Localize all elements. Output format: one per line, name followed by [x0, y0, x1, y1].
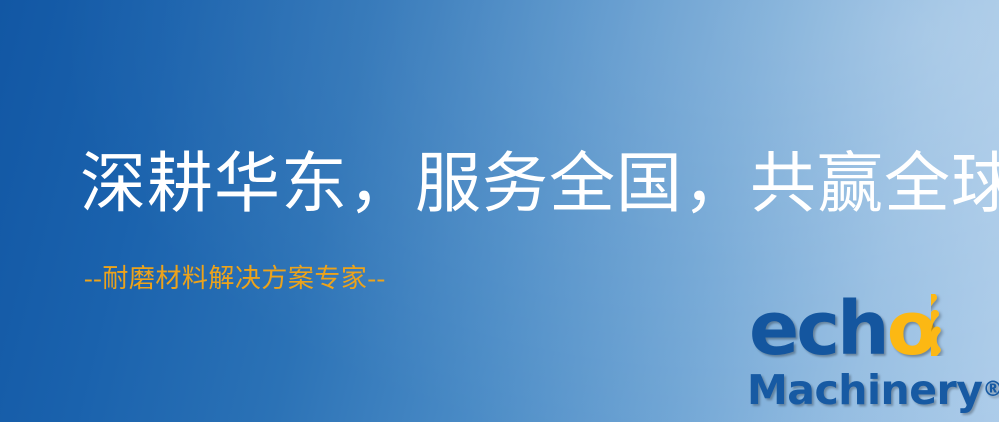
banner-subtitle: --耐磨材料解决方案专家--: [84, 266, 386, 292]
hero-banner: 深耕华东，服务全国，共赢全球 --耐磨材料解决方案专家-- echo: [0, 0, 999, 422]
logo-subbrand-label: Machinery: [747, 366, 982, 414]
signal-waves-icon: [931, 294, 999, 356]
banner-headline: 深耕华东，服务全国，共赢全球: [80, 152, 999, 218]
logo-brand-text-gold: o: [887, 286, 935, 372]
registered-trademark-icon: ®: [982, 377, 999, 401]
logo-wordmark: echo: [745, 296, 999, 376]
logo-subbrand-text: Machinery®: [747, 370, 999, 411]
logo-brand-text: echo: [749, 292, 935, 366]
logo-brand-text-blue: ech: [749, 286, 887, 372]
company-logo[interactable]: echo Machinery®: [745, 296, 999, 422]
